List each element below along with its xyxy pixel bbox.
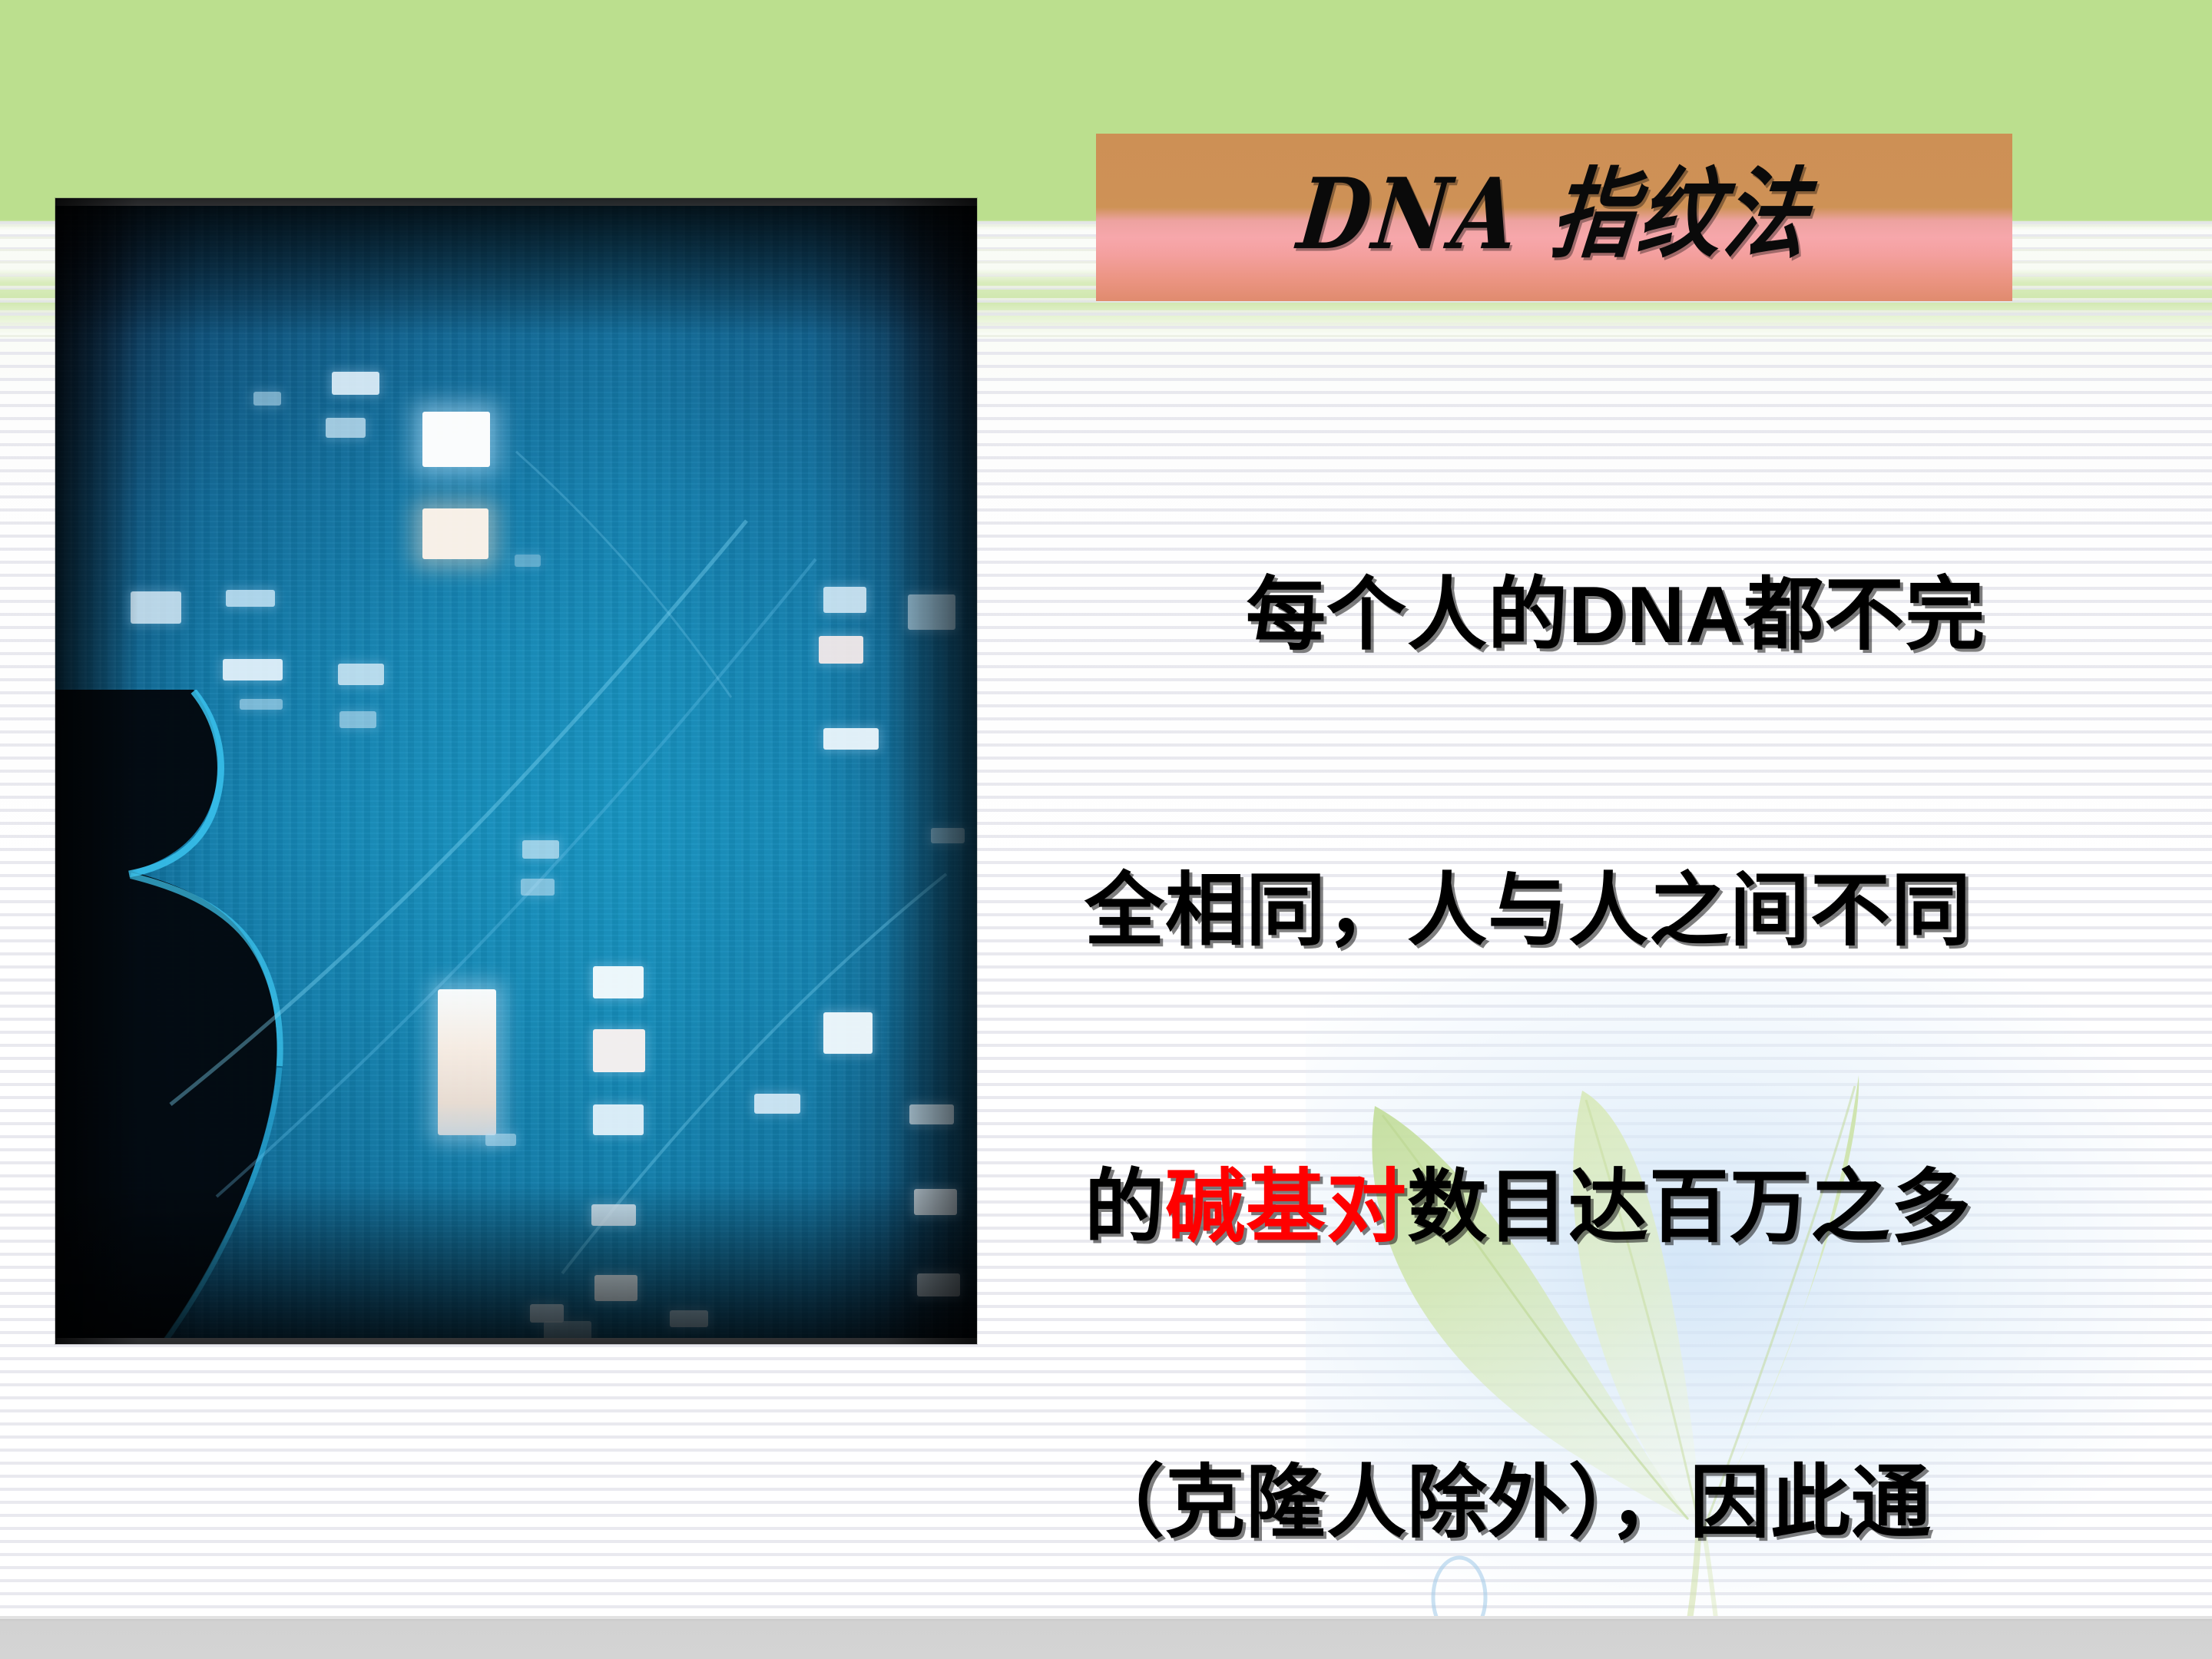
body-line-3-suffix: 数目达百万之多 [1407, 1163, 1972, 1252]
highlight-term: 碱基对 [1165, 1163, 1407, 1252]
slide-title: DNA 指纹法 [1293, 166, 1816, 270]
title-box: DNA 指纹法 [1096, 134, 2012, 301]
body-line-3: 的碱基对数目达百万之多 [1084, 1158, 2194, 1257]
dna-gel-photo [55, 198, 977, 1344]
body-line-4: （克隆人除外），因此通 [1084, 1454, 2194, 1552]
body-paragraph: 每个人的DNA都不完 全相同，人与人之间不同 的碱基对数目达百万之多 （克隆人除… [1084, 369, 2194, 1659]
gel-bands [55, 198, 977, 1344]
photo-bottom-edge [55, 1338, 977, 1344]
body-line-3-prefix: 的 [1084, 1163, 1165, 1252]
slide-canvas: DNA 指纹法 每个人的DNA都不完 全相同，人与人之间不同 的碱基对数目达百万… [0, 0, 2212, 1659]
footer-band [0, 1619, 2212, 1659]
body-line-2: 全相同，人与人之间不同 [1084, 862, 2194, 960]
photo-top-edge [55, 198, 977, 206]
body-line-1: 每个人的DNA都不完 [1084, 566, 2194, 664]
